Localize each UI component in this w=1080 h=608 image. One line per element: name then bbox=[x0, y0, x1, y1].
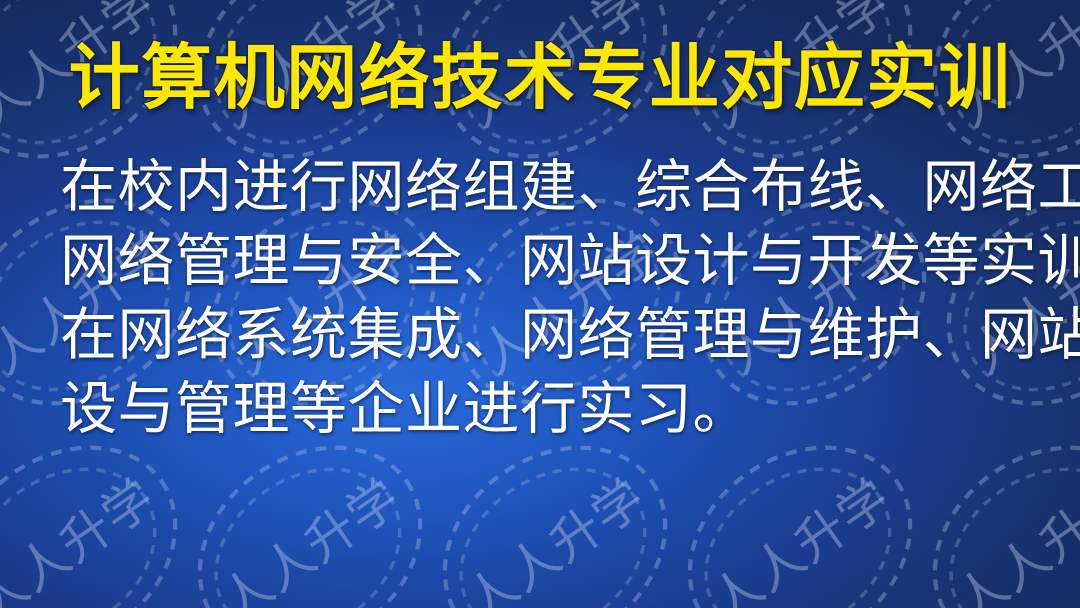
slide-body: 在校内进行网络组建、综合布线、网络工程、 网络管理与安全、网站设计与开发等实训。… bbox=[60, 150, 1035, 446]
body-line: 设与管理等企业进行实习。 bbox=[60, 372, 1035, 446]
slide-title: 计算机网络技术专业对应实训 bbox=[0, 41, 1080, 116]
body-line: 网络管理与安全、网站设计与开发等实训。 bbox=[60, 224, 1035, 298]
body-line: 在网络系统集成、网络管理与维护、网站建 bbox=[60, 298, 1035, 372]
body-line: 在校内进行网络组建、综合布线、网络工程、 bbox=[60, 150, 1035, 224]
slide-content: 计算机网络技术专业对应实训 在校内进行网络组建、综合布线、网络工程、 网络管理与… bbox=[0, 0, 1080, 608]
slide-canvas: 人人升学人人升学人人升学人人升学人人升学人人升学人人升学人人升学人人升学人人升学… bbox=[0, 0, 1080, 608]
